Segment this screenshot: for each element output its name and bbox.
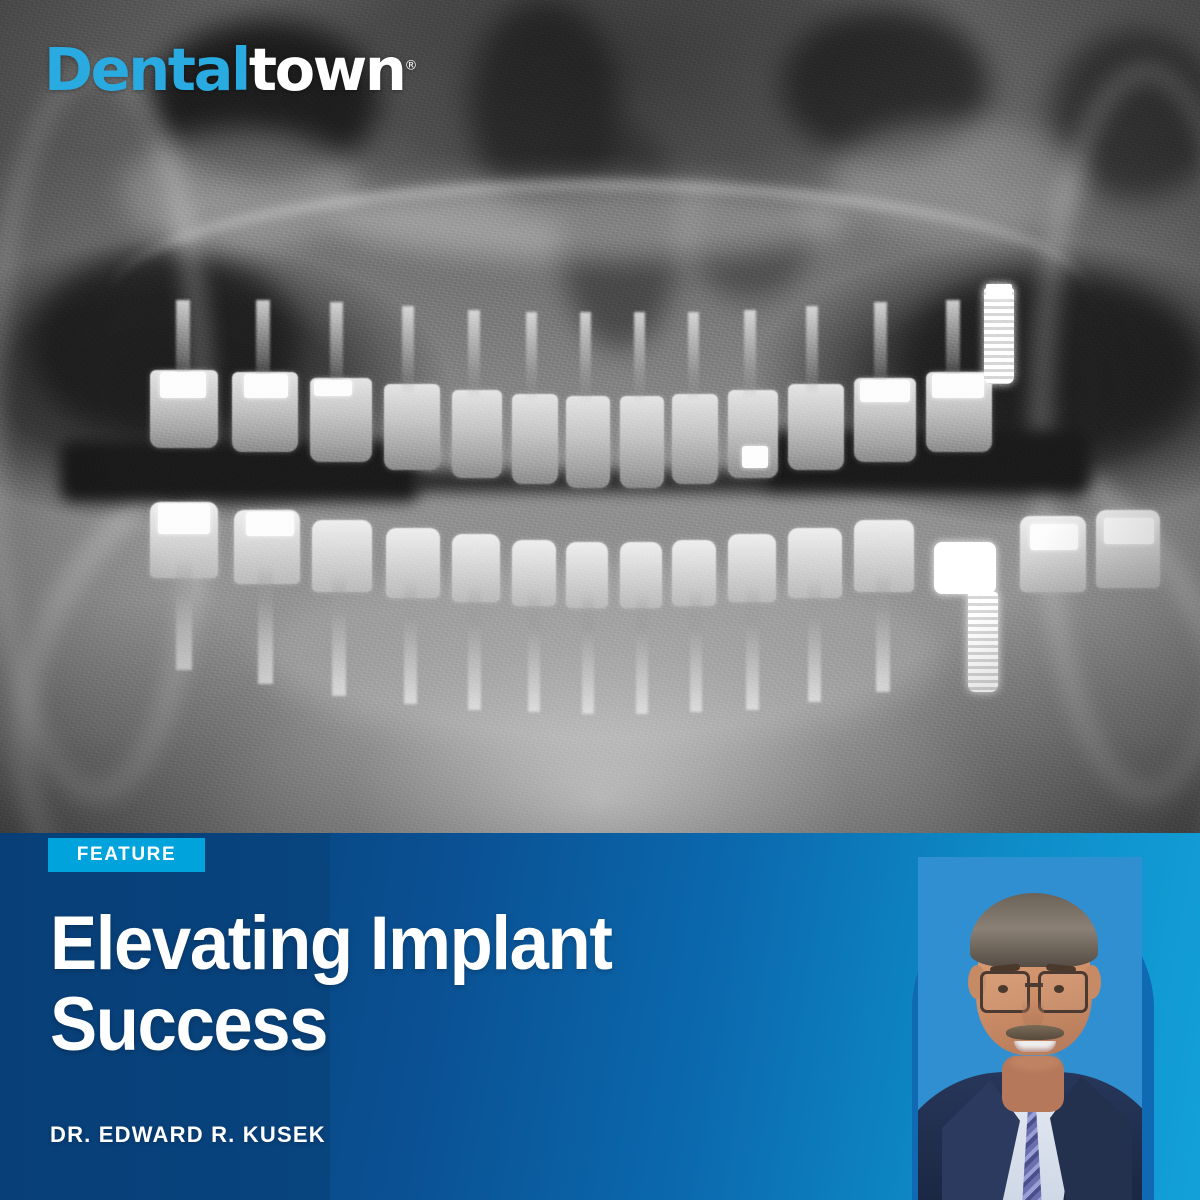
portrait-chin [1010, 1053, 1060, 1071]
logo-text-town: town [249, 35, 405, 104]
author-byline: DR. EDWARD R. KUSEK [50, 1122, 326, 1148]
article-title-line-2: Success [50, 985, 701, 1066]
article-title: Elevating Implant Success [50, 904, 701, 1065]
author-portrait [918, 857, 1142, 1200]
dentaltown-logo[interactable]: Dentaltown® [44, 40, 418, 99]
portrait-mustache [1006, 1025, 1064, 1040]
panoramic-xray-image: Dentaltown® [0, 0, 1200, 833]
feature-badge-label: FEATURE [77, 844, 177, 866]
xray-vignette [0, 0, 1200, 833]
portrait-mouth [1014, 1041, 1056, 1052]
article-title-line-1: Elevating Implant [50, 901, 611, 986]
registered-trademark-icon: ® [405, 58, 418, 73]
article-cover: Dentaltown® FEATURE Elevating Implant Su… [0, 0, 1200, 1200]
logo-text-dental: Dental [44, 35, 249, 104]
eyeglass-lens-right [1038, 971, 1088, 1013]
feature-badge: FEATURE [48, 838, 205, 872]
